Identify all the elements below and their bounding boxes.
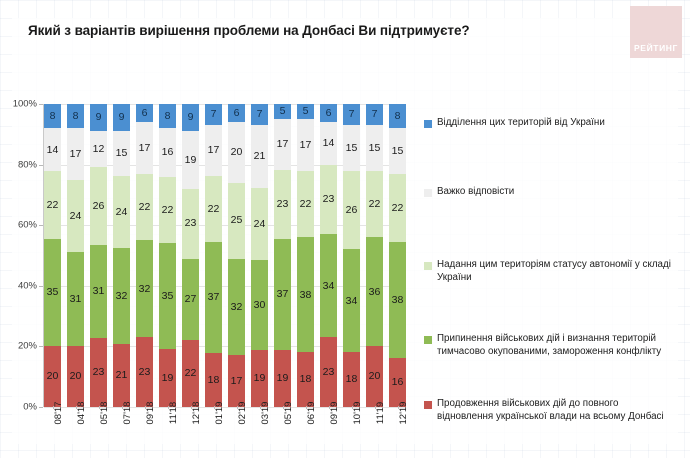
bar-segment[interactable]: 22 [159,177,176,244]
bar-segment[interactable]: 32 [113,248,130,344]
x-axis-label: 07'18 [113,409,130,455]
y-axis-tick [39,286,43,287]
bar-column[interactable]: 721243019 [251,104,268,407]
legend-label: Відділення цих територій від України [437,117,605,130]
chart-legend: Відділення цих територій від УкраїниВажк… [424,0,682,458]
bar-segment[interactable]: 31 [90,245,107,338]
x-axis-label: 01'19 [205,409,222,455]
bar-column[interactable]: 919232722 [182,104,199,407]
x-axis-label-text: 09'19 [329,402,340,425]
bar-column[interactable]: 816223519 [159,104,176,407]
legend-swatch [424,262,432,270]
y-axis-label: 60% [18,220,37,231]
x-axis-label-text: 08'17 [53,402,64,425]
x-axis-label-text: 07'18 [122,402,133,425]
x-axis-label-text: 04'18 [76,402,87,425]
x-axis-label: 06'19 [297,409,314,455]
bar-segment[interactable]: 27 [182,259,199,341]
x-axis-label: 03'19 [251,409,268,455]
bar-segment[interactable]: 6 [320,104,337,122]
bar-segment[interactable]: 8 [44,104,61,128]
bar-segment[interactable]: 37 [205,242,222,353]
bar-segment[interactable]: 7 [343,104,360,125]
bar-segment[interactable]: 24 [67,180,84,253]
legend-label: Припинення військових дій і визнання тер… [437,333,676,359]
y-axis-label: 20% [18,341,37,352]
bar-segment[interactable]: 23 [320,165,337,235]
x-axis-label: 05'18 [90,409,107,455]
y-axis-tick [39,225,43,226]
bar-segment[interactable]: 22 [297,171,314,238]
bar-segment[interactable]: 15 [366,125,383,170]
bar-column[interactable]: 614233423 [320,104,337,407]
x-axis-label-text: 11'18 [168,402,179,424]
y-axis-tick [39,165,43,166]
bar-segment[interactable]: 19 [274,350,291,407]
x-axis-label-text: 02'19 [237,402,248,425]
bar-segment[interactable]: 23 [320,337,337,407]
x-axis-label: 09'19 [320,409,337,455]
chart-plot-area: 100%80%60%40%20%0% 814223520817243120912… [44,104,406,407]
bar-segment[interactable]: 18 [297,352,314,407]
bar-segment[interactable]: 26 [90,167,107,245]
bar-segment[interactable]: 20 [228,122,245,183]
legend-swatch [424,120,432,128]
bar-segment[interactable]: 22 [182,340,199,407]
bar-segment[interactable]: 8 [159,104,176,128]
bar-segment[interactable]: 22 [44,171,61,238]
bar-column[interactable]: 815223816 [389,104,406,407]
bar-segment[interactable]: 7 [205,104,222,125]
x-axis-label: 05'19 [274,409,291,455]
bar-column[interactable]: 912263123 [90,104,107,407]
x-axis-label: 12'18 [182,409,199,455]
bar-segment[interactable]: 23 [90,338,107,407]
bar-segment[interactable]: 22 [389,174,406,241]
bar-segment[interactable]: 38 [389,242,406,358]
bar-segment[interactable]: 15 [113,131,130,176]
x-axis-label-text: 06'19 [306,402,317,425]
bar-column[interactable]: 717223718 [205,104,222,407]
bar-segment[interactable]: 17 [205,125,222,176]
bar-segment[interactable]: 26 [343,171,360,250]
x-axis-label-text: 09'18 [145,402,156,425]
bar-segment[interactable]: 22 [366,171,383,238]
bar-segment[interactable]: 8 [67,104,84,128]
legend-label: Важко відповісти [437,186,514,199]
bar-column[interactable]: 715263418 [343,104,360,407]
x-axis-label-text: 12'19 [398,402,409,425]
bar-segment[interactable]: 23 [136,337,153,407]
bar-column[interactable]: 620253217 [228,104,245,407]
bar-segment[interactable]: 17 [297,119,314,171]
bar-segment[interactable]: 7 [366,104,383,125]
x-axis-label: 12'19 [389,409,406,455]
bar-segment[interactable]: 19 [159,349,176,407]
bar-segment[interactable]: 19 [251,350,268,407]
bar-column[interactable]: 517223818 [297,104,314,407]
y-axis-tick [39,104,43,105]
bar-segment[interactable]: 25 [228,183,245,259]
x-axis-labels: 08'1704'1805'1807'1809'1811'1812'1801'19… [44,409,406,455]
x-axis-label: 11'19 [366,409,383,455]
bar-segment[interactable]: 12 [90,131,107,167]
bar-segment[interactable]: 15 [343,125,360,170]
bar-segment[interactable]: 23 [182,189,199,259]
bar-segment[interactable]: 34 [343,249,360,352]
y-axis-label: 0% [23,402,37,413]
bar-segment[interactable]: 14 [320,122,337,164]
x-axis-label-text: 10'19 [352,402,363,425]
x-axis-label-text: 03'19 [260,402,271,425]
x-axis-label: 08'17 [44,409,61,455]
x-axis-label-text: 12'18 [191,402,202,425]
legend-item[interactable]: Припинення військових дій і визнання тер… [424,333,676,359]
bar-segment[interactable]: 18 [343,352,360,407]
bar-segment[interactable]: 15 [389,128,406,174]
bar-segment[interactable]: 8 [389,104,406,128]
y-axis-label: 40% [18,280,37,291]
bar-segment[interactable]: 22 [205,176,222,242]
bar-segment[interactable]: 6 [136,104,153,122]
bar-segment[interactable]: 9 [182,104,199,131]
y-axis-label: 100% [13,99,37,110]
bar-segment[interactable]: 20 [44,346,61,407]
bar-column[interactable]: 715223620 [366,104,383,407]
bar-segment[interactable]: 20 [366,346,383,407]
legend-swatch [424,189,432,197]
bar-segment[interactable]: 36 [366,237,383,346]
bar-segment[interactable]: 24 [251,188,268,260]
legend-item[interactable]: Продовження військових дій до повного ві… [424,398,676,424]
legend-swatch [424,401,432,409]
x-axis-label-text: 05'19 [283,402,294,425]
bar-segment[interactable]: 17 [67,128,84,180]
x-axis-label-text: 05'18 [99,402,110,425]
y-axis-tick [39,346,43,347]
bar-segment[interactable]: 31 [67,252,84,346]
bar-column[interactable]: 915243221 [113,104,130,407]
bar-segment[interactable]: 38 [297,237,314,352]
bar-segment[interactable]: 37 [274,239,291,350]
x-axis-label: 10'19 [343,409,360,455]
bar-segment[interactable]: 7 [251,104,268,125]
bar-segment[interactable]: 32 [228,259,245,356]
bar-segment[interactable]: 17 [274,119,291,170]
bar-segment[interactable]: 16 [159,128,176,176]
bar-segment[interactable]: 22 [136,174,153,241]
legend-item[interactable]: Відділення цих територій від України [424,117,676,130]
bar-column[interactable]: 617223223 [136,104,153,407]
bar-column[interactable]: 817243120 [67,104,84,407]
bar-segment[interactable]: 9 [90,104,107,131]
x-axis-label-text: 01'19 [214,402,225,425]
bar-segment[interactable]: 6 [228,104,245,122]
bar-segment[interactable]: 16 [389,358,406,407]
bar-segment[interactable]: 21 [113,344,130,407]
bar-group: 8142235208172431209122631239152432216172… [44,104,406,407]
bar-segment[interactable]: 5 [274,104,291,119]
bar-segment[interactable]: 35 [159,243,176,349]
x-axis-label: 09'18 [136,409,153,455]
bar-segment[interactable]: 17 [228,355,245,407]
x-axis-label-text: 11'19 [375,402,386,424]
bar-column[interactable]: 814223520 [44,104,61,407]
bar-segment[interactable]: 5 [297,104,314,119]
legend-item[interactable]: Надання цим територіям статусу автономії… [424,259,676,285]
bar-segment[interactable]: 14 [44,128,61,171]
legend-item[interactable]: Важко відповісти [424,186,676,199]
x-axis-label: 02'19 [228,409,245,455]
y-axis-label: 80% [18,159,37,170]
bar-segment[interactable]: 9 [113,104,130,131]
legend-label: Продовження військових дій до повного ві… [437,398,676,424]
bar-segment[interactable]: 32 [136,240,153,337]
y-axis-tick [39,407,43,408]
bar-segment[interactable]: 30 [251,260,268,350]
bar-segment[interactable]: 21 [251,125,268,188]
bar-segment[interactable]: 20 [67,346,84,407]
x-axis-label: 04'18 [67,409,84,455]
bar-segment[interactable]: 18 [205,353,222,407]
bar-segment[interactable]: 19 [182,131,199,189]
legend-swatch [424,336,432,344]
legend-label: Надання цим територіям статусу автономії… [437,259,676,285]
bar-segment[interactable]: 35 [44,239,61,346]
x-axis-label: 11'18 [159,409,176,455]
bar-segment[interactable]: 34 [320,234,337,337]
bar-segment[interactable]: 17 [136,122,153,174]
bar-segment[interactable]: 23 [274,170,291,239]
bar-column[interactable]: 517233719 [274,104,291,407]
bar-segment[interactable]: 24 [113,176,130,248]
